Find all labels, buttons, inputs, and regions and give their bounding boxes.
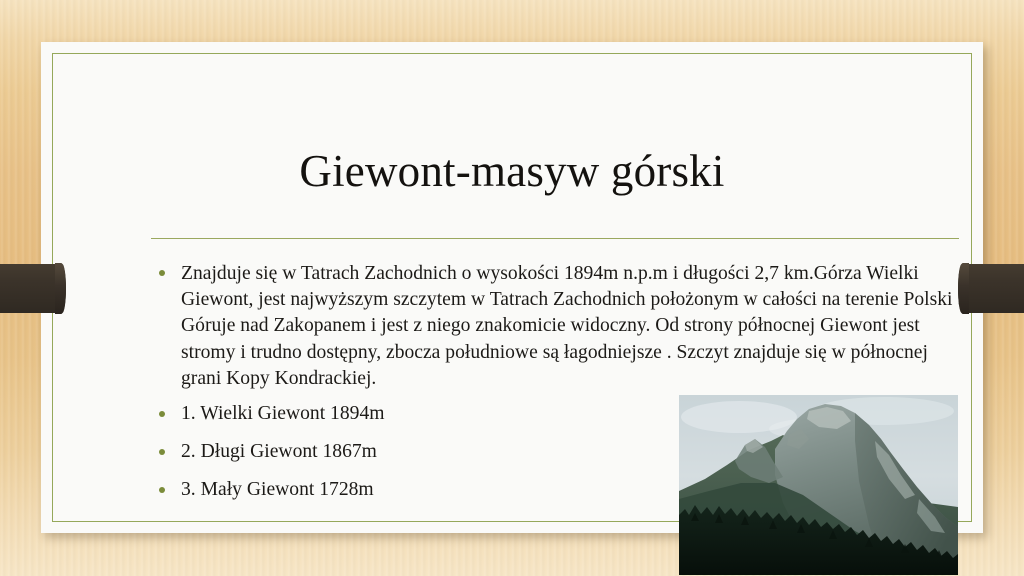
title-divider [151,238,959,239]
decorative-ribbon-left [0,264,66,313]
body-paragraph: Znajduje się w Tatrach Zachodnich o wyso… [151,261,963,392]
decorative-ribbon-right [958,264,1024,313]
bullet-dot-icon [159,270,165,276]
list-item-label: 3. Mały Giewont 1728m [181,479,374,500]
body-paragraph-text: Znajduje się w Tatrach Zachodnich o wyso… [181,263,962,389]
slide-card: Giewont-masyw górski Znajduje się w Tatr… [41,42,983,533]
giewont-photo-image [679,395,958,575]
list-item-label: 1. Wielki Giewont 1894m [181,403,384,424]
page-title: Giewont-masyw górski [111,146,913,196]
giewont-photo [679,395,958,575]
slide-stage: Giewont-masyw górski Znajduje się w Tatr… [0,0,1024,576]
bullet-dot-icon [159,487,165,493]
bullet-dot-icon [159,449,165,455]
bullet-dot-icon [159,411,165,417]
list-item-label: 2. Długi Giewont 1867m [181,441,377,462]
